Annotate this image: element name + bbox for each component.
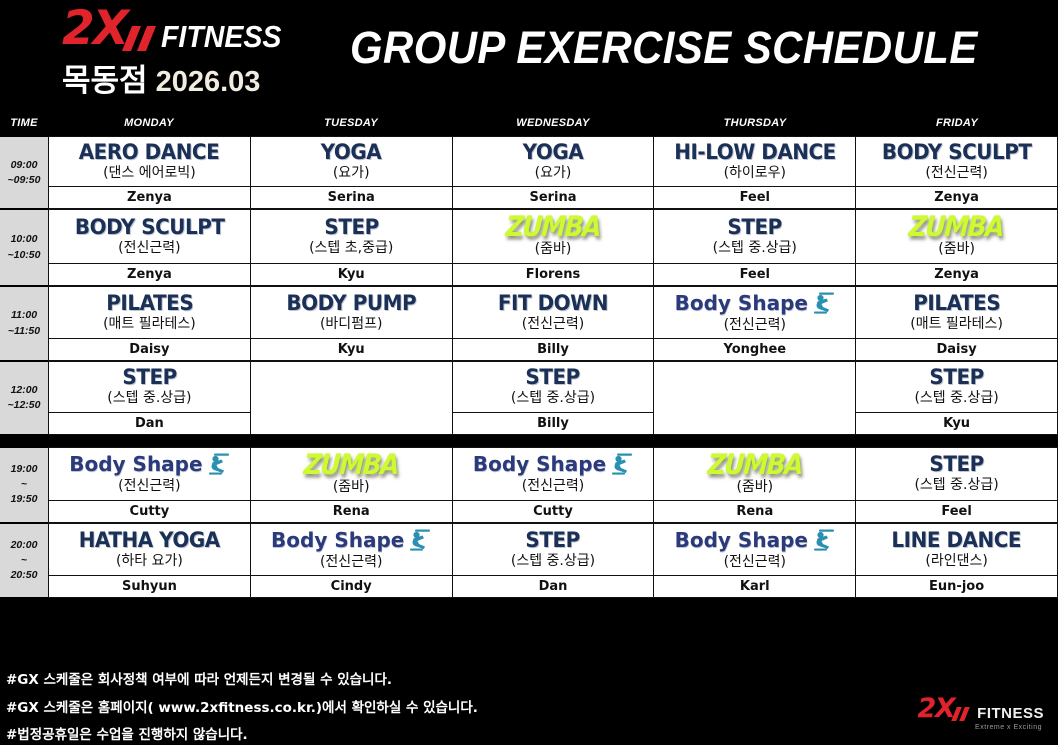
class-cell-body: PILATES(매트 필라테스) [856,287,1057,338]
brand-logo-top: 2X FITNESS [62,6,292,52]
class-title: BODY PUMP [286,292,416,314]
class-cell-thursday[interactable]: Body Shape(전신근력)Yonghee [653,286,855,361]
class-title: HATHA YOGA [79,529,220,551]
page-title: GROUP EXERCISE SCHEDULE [350,22,978,74]
class-cell-tuesday[interactable]: YOGA(요가)Serina [250,136,452,209]
class-cell-monday[interactable]: HATHA YOGA(하타 요가)Suhyun [48,523,250,598]
brand-month: 2026.03 [156,66,261,99]
day-header-thursday: THURSDAY [654,117,856,129]
class-subtitle: (스텝 중.상급) [107,391,191,406]
class-cell-body: Body Shape(전신근력) [49,448,250,500]
time-slot-label: 10:00~10:50 [0,209,48,285]
instructor-name: Zenya [856,186,1057,208]
weightlifter-icon [204,452,230,476]
class-cell-body: AERO DANCE(댄스 에어로빅) [49,137,250,186]
footer-note-3: #법정공휴일은 수업을 진행하지 않습니다. [6,729,1058,743]
class-cell-body: BODY SCULPT(전신근력) [856,137,1057,186]
time-slot-label: 19:00~19:50 [0,447,48,523]
instructor-name: Daisy [49,338,250,360]
instructor-name: Daisy [856,338,1057,360]
class-cell-thursday[interactable]: ZUMBA(줌바)Rena [653,447,855,523]
class-cell-body [251,362,452,411]
class-title: STEP [526,366,580,388]
footer-logo-top: 2X FITNESS [918,695,1044,722]
time-line: 19:00 [11,462,38,477]
schedule-row: 10:00~10:50BODY SCULPT(전신근력)ZenyaSTEP(스텝… [0,209,1058,285]
time-slot-label: 11:00~11:50 [0,286,48,361]
instructor-name: Dan [49,412,250,434]
class-subtitle: (줌바) [535,242,572,257]
class-cell-body: BODY SCULPT(전신근력) [49,210,250,262]
class-subtitle: (스텝 중.상급) [914,478,998,493]
instructor-name [654,412,855,434]
weightlifter-icon [405,528,431,552]
brand-fitness-text: FITNESS [161,21,281,52]
page-header: 2X FITNESS 목동점 2026.03 GROUP EXERCISE SC… [0,0,1058,110]
class-title: STEP [929,366,983,388]
footer-2x-text: 2X [918,695,955,722]
footer-tagline: Extreme x Exciting [918,724,1044,731]
day-header-row: TIME MONDAY TUESDAY WEDNESDAY THURSDAY F… [0,110,1058,136]
class-title: AERO DANCE [79,141,220,163]
class-subtitle: (요가) [333,166,370,181]
class-cell-body: Body Shape(전신근력) [251,524,452,575]
class-cell-friday[interactable]: STEP(스텝 중.상급)Feel [855,447,1058,523]
page-footer: #GX 스케줄은 회사정책 여부에 따라 언제든지 변경될 수 있습니다. #G… [0,668,1058,745]
class-cell-friday[interactable]: LINE DANCE(라인댄스)Eun-joo [855,523,1058,598]
brand-slash-icon [125,26,165,52]
class-title: HI-LOW DANCE [674,141,836,163]
class-subtitle: (스텝 중.상급) [511,391,595,406]
class-cell-body: YOGA(요가) [453,137,654,186]
instructor-name: Kyu [856,412,1057,434]
class-title: STEP [929,453,983,475]
class-cell-body: ZUMBA(줌바) [856,210,1057,262]
class-cell-monday[interactable]: BODY SCULPT(전신근력)Zenya [48,209,250,285]
time-line: 11:00 [11,308,37,323]
footer-fitness-text: FITNESS [977,706,1044,721]
class-cell-monday[interactable]: AERO DANCE(댄스 에어로빅)Zenya [48,136,250,209]
instructor-name: Rena [654,500,855,522]
class-cell-wednesday[interactable]: Body Shape(전신근력)Cutty [452,447,654,523]
instructor-name: Billy [453,412,654,434]
class-cell-tuesday[interactable]: ZUMBA(줌바)Rena [250,447,452,523]
class-cell-wednesday[interactable]: YOGA(요가)Serina [452,136,654,209]
class-subtitle: (줌바) [333,480,370,495]
class-subtitle: (전신근력) [118,241,180,256]
class-cell-body: STEP(스텝 중.상급) [654,210,855,262]
time-line: 19:50 [11,492,38,507]
day-header-wednesday: WEDNESDAY [452,117,654,129]
instructor-name: Kyu [251,338,452,360]
class-subtitle: (전신근력) [522,317,584,332]
time-line: ~09:50 [8,173,41,188]
zumba-logo: ZUMBA [909,213,1005,241]
instructor-name: Dan [453,575,654,597]
weightlifter-icon [809,291,835,315]
class-cell-body: STEP(스텝 중.상급) [856,362,1057,411]
class-cell-tuesday[interactable]: STEP(스텝 초,중급)Kyu [250,209,452,285]
weightlifter-icon [809,528,835,552]
time-line: ~ [21,553,27,568]
instructor-name: Rena [251,500,452,522]
instructor-name [251,412,452,434]
instructor-name: Billy [453,338,654,360]
schedule-section-divider [0,435,1058,447]
body-shape-logo: Body Shape [271,528,431,552]
time-line: ~11:50 [8,324,40,339]
time-line: ~ [21,477,27,492]
instructor-name: Yonghee [654,338,855,360]
time-line: ~12:50 [8,398,41,413]
weightlifter-icon [607,452,633,476]
class-title: PILATES [913,292,1000,314]
footer-note-1: #GX 스케줄은 회사정책 여부에 따라 언제든지 변경될 수 있습니다. [6,674,1058,688]
class-cell-body: ZUMBA(줌바) [453,210,654,262]
day-header-tuesday: TUESDAY [250,117,452,129]
class-cell-thursday[interactable]: Body Shape(전신근력)Karl [653,523,855,598]
class-cell-body: HI-LOW DANCE(하이로우) [654,137,855,186]
class-subtitle: (하타 요가) [116,554,183,569]
class-cell-tuesday[interactable]: Body Shape(전신근력)Cindy [250,523,452,598]
class-cell-wednesday[interactable]: ZUMBA(줌바)Florens [452,209,654,285]
instructor-name: Serina [251,186,452,208]
footer-slash-icon [953,707,975,722]
time-slot-label: 20:00~20:50 [0,523,48,598]
class-title: BODY SCULPT [75,216,225,238]
schedule-row: 19:00~19:50Body Shape(전신근력)CuttyZUMBA(줌바… [0,447,1058,523]
day-header-monday: MONDAY [48,117,250,129]
class-cell-monday[interactable]: PILATES(매트 필라테스)Daisy [48,286,250,361]
class-cell-friday[interactable]: STEP(스텝 중.상급)Kyu [855,361,1058,434]
class-subtitle: (전신근력) [925,166,987,181]
class-cell-body: PILATES(매트 필라테스) [49,287,250,338]
schedule-row: 11:00~11:50PILATES(매트 필라테스)DaisyBODY PUM… [0,286,1058,361]
instructor-name: Serina [453,186,654,208]
class-title: STEP [728,216,782,238]
class-title: LINE DANCE [892,529,1022,551]
class-cell-body: Body Shape(전신근력) [654,287,855,338]
class-cell-tuesday[interactable] [250,361,452,434]
class-title: Body Shape [473,454,606,474]
class-subtitle: (스텝 중.상급) [914,391,998,406]
class-cell-friday[interactable]: BODY SCULPT(전신근력)Zenya [855,136,1058,209]
instructor-name: Eun-joo [856,575,1057,597]
class-subtitle: (전신근력) [724,318,786,333]
zumba-logo: ZUMBA [707,450,803,478]
class-subtitle: (전신근력) [320,555,382,570]
class-title: Body Shape [271,530,404,550]
footer-note-2: #GX 스케줄은 홈페이지( www.2xfitness.co.kr.)에서 확… [6,702,1058,716]
class-cell-body: STEP(스텝 중.상급) [453,524,654,575]
class-subtitle: (전신근력) [522,479,584,494]
class-cell-body: ZUMBA(줌바) [251,448,452,500]
zumba-logo: ZUMBA [303,450,399,478]
class-subtitle: (전신근력) [118,479,180,494]
class-title: Body Shape [69,454,202,474]
class-cell-body: STEP(스텝 중.상급) [49,362,250,411]
instructor-name: Cutty [453,500,654,522]
time-slot-label: 12:00~12:50 [0,361,48,434]
time-line: ~10:50 [8,248,41,263]
instructor-name: Zenya [856,263,1057,285]
class-title: PILATES [106,292,193,314]
class-cell-body: BODY PUMP(바디펌프) [251,287,452,338]
brand-store-name: 목동점 [62,55,148,100]
class-cell-body: STEP(스텝 중.상급) [856,448,1057,500]
class-subtitle: (전신근력) [724,555,786,570]
class-cell-tuesday[interactable]: BODY PUMP(바디펌프)Kyu [250,286,452,361]
class-subtitle: (매트 필라테스) [910,317,1003,332]
instructor-name: Zenya [49,263,250,285]
class-subtitle: (줌바) [736,480,773,495]
day-header-friday: FRIDAY [856,117,1058,129]
schedule-table: 09:00~09:50AERO DANCE(댄스 에어로빅)ZenyaYOGA(… [0,136,1058,598]
class-cell-friday[interactable]: ZUMBA(줌바)Zenya [855,209,1058,285]
time-line: 20:00 [11,538,38,553]
time-line: 12:00 [11,383,38,398]
class-cell-thursday[interactable] [653,361,855,434]
class-title: STEP [122,366,176,388]
instructor-name: Feel [654,186,855,208]
class-cell-body: Body Shape(전신근력) [654,524,855,575]
instructor-name: Zenya [49,186,250,208]
class-cell-thursday[interactable]: HI-LOW DANCE(하이로우)Feel [653,136,855,209]
time-slot-label: 09:00~09:50 [0,136,48,209]
instructor-name: Suhyun [49,575,250,597]
class-cell-wednesday[interactable]: STEP(스텝 중.상급)Billy [452,361,654,434]
class-subtitle: (바디펌프) [320,317,382,332]
body-shape-logo: Body Shape [675,528,835,552]
class-title: BODY SCULPT [882,141,1032,163]
class-cell-wednesday[interactable]: STEP(스텝 중.상급)Dan [452,523,654,598]
class-title: YOGA [523,141,584,163]
class-subtitle: (요가) [535,166,572,181]
brand-subtitle: 목동점 2026.03 [62,55,292,100]
class-cell-wednesday[interactable]: FIT DOWN(전신근력)Billy [452,286,654,361]
class-subtitle: (줌바) [938,242,975,257]
class-title: Body Shape [675,530,808,550]
instructor-name: Karl [654,575,855,597]
instructor-name: Cutty [49,500,250,522]
instructor-name: Kyu [251,263,452,285]
time-line: 09:00 [11,158,38,173]
class-cell-thursday[interactable]: STEP(스텝 중.상급)Feel [653,209,855,285]
time-line: 20:50 [11,568,38,583]
class-title: Body Shape [675,293,808,313]
instructor-name: Florens [453,263,654,285]
schedule-row: 09:00~09:50AERO DANCE(댄스 에어로빅)ZenyaYOGA(… [0,136,1058,209]
class-cell-body: ZUMBA(줌바) [654,448,855,500]
class-cell-body: HATHA YOGA(하타 요가) [49,524,250,575]
time-line: 10:00 [11,232,38,247]
class-cell-body: STEP(스텝 중.상급) [453,362,654,411]
class-subtitle: (하이로우) [724,166,786,181]
class-title: YOGA [321,141,382,163]
class-subtitle: (댄스 에어로빅) [103,166,196,181]
class-cell-body: LINE DANCE(라인댄스) [856,524,1057,575]
class-title: STEP [526,529,580,551]
class-cell-body: YOGA(요가) [251,137,452,186]
class-cell-friday[interactable]: PILATES(매트 필라테스)Daisy [855,286,1058,361]
body-shape-logo: Body Shape [675,291,835,315]
class-subtitle: (스텝 중.상급) [511,554,595,569]
footer-brand-logo: 2X FITNESS Extreme x Exciting [918,695,1044,731]
class-cell-monday[interactable]: Body Shape(전신근력)Cutty [48,447,250,523]
schedule-row: 20:00~20:50HATHA YOGA(하타 요가)SuhyunBody S… [0,523,1058,598]
class-subtitle: (매트 필라테스) [103,317,196,332]
class-title: FIT DOWN [498,292,608,314]
class-cell-body: Body Shape(전신근력) [453,448,654,500]
class-subtitle: (스텝 중.상급) [713,241,797,256]
body-shape-logo: Body Shape [69,452,229,476]
instructor-name: Feel [654,263,855,285]
class-subtitle: (스텝 초,중급) [309,241,393,256]
zumba-logo: ZUMBA [505,213,601,241]
instructor-name: Feel [856,500,1057,522]
class-cell-body: FIT DOWN(전신근력) [453,287,654,338]
time-column-header: TIME [0,117,48,129]
instructor-name: Cindy [251,575,452,597]
body-shape-logo: Body Shape [473,452,633,476]
brand-logo: 2X FITNESS 목동점 2026.03 [62,6,292,100]
class-title: STEP [324,216,378,238]
brand-2x-text: 2X [62,5,127,52]
class-cell-body: STEP(스텝 초,중급) [251,210,452,262]
class-subtitle: (라인댄스) [925,554,987,569]
schedule-row: 12:00~12:50STEP(스텝 중.상급)DanSTEP(스텝 중.상급)… [0,361,1058,434]
class-cell-monday[interactable]: STEP(스텝 중.상급)Dan [48,361,250,434]
class-cell-body [654,362,855,411]
